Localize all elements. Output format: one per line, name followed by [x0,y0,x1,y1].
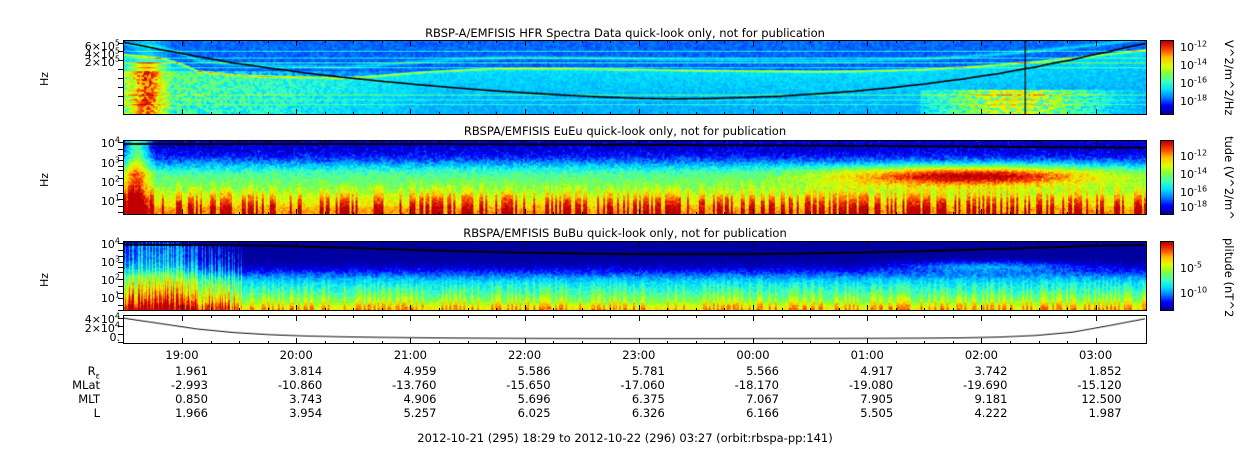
x-minor-tick [1067,212,1068,215]
x-minor-tick [839,315,840,318]
x-minor-tick [610,341,611,344]
x-minor-tick [211,241,212,244]
x-minor-tick [382,308,383,311]
x-major-tick [753,338,754,344]
x-major-tick [296,140,297,146]
x-major-tick [639,338,640,344]
x-minor-tick [268,315,269,318]
x-major-tick [410,241,411,247]
x-minor-tick [896,140,897,143]
colorbar-hfr-tick-2: 10-16 [1180,77,1207,90]
x-minor-tick [839,140,840,143]
x-minor-tick [239,140,240,143]
y-tick [118,170,123,171]
x-minor-tick [696,315,697,318]
x-minor-tick [439,40,440,43]
colorbar-eueu-tick-1: 10-14 [1180,168,1207,181]
x-minor-tick [353,40,354,43]
x-major-tick [296,315,297,321]
x-minor-tick [582,140,583,143]
x-minor-tick [1067,315,1068,318]
x-minor-tick [1039,40,1040,43]
x-major-tick [867,338,868,344]
x-minor-tick [496,241,497,244]
y-tick [118,43,123,44]
x-minor-tick [582,241,583,244]
y-tick [118,199,123,200]
x-minor-tick [211,341,212,344]
x-major-tick [867,209,868,215]
x-major-tick [296,338,297,344]
y-tick [118,206,123,207]
x-minor-tick [610,212,611,215]
x-minor-tick [810,140,811,143]
x-minor-tick [439,140,440,143]
x-minor-tick [468,341,469,344]
table-cell: 5.696 [455,392,551,406]
x-minor-tick [667,112,668,115]
table-cell: 3.742 [911,364,1007,378]
x-minor-tick [211,112,212,115]
colorbar-hfr [1160,40,1174,115]
x-minor-tick [667,140,668,143]
x-major-tick [753,315,754,321]
x-minor-tick [1010,112,1011,115]
x-minor-tick [924,112,925,115]
x-major-tick [1096,241,1097,247]
x-minor-tick [724,308,725,311]
x-major-tick [410,209,411,215]
table-row-label-l: L [20,406,100,420]
x-minor-tick [696,241,697,244]
table-cell: 0.850 [112,392,208,406]
x-tick-label-7: 02:00 [945,348,1017,362]
x-minor-tick [211,308,212,311]
x-minor-tick [468,241,469,244]
x-major-tick [182,109,183,115]
x-major-tick [525,209,526,215]
panel-title-eueu: RBSPA/EMFISIS EuEu quick-look only, not … [0,124,1250,138]
ytick-hfr-2: 2×105 [58,58,120,68]
x-minor-tick [610,308,611,311]
panel-ylabel-bubu: Hz [38,265,51,295]
x-major-tick [639,241,640,247]
x-minor-tick [1067,241,1068,244]
x-major-tick [182,241,183,247]
x-minor-tick [1067,341,1068,344]
x-minor-tick [325,112,326,115]
x-major-tick [753,241,754,247]
x-minor-tick [439,308,440,311]
x-major-tick [182,338,183,344]
figure-root: RBSP-A/EMFISIS HFR Spectra Data quick-lo… [0,0,1250,449]
table-cell: -10.860 [226,378,322,392]
x-major-tick [296,241,297,247]
x-minor-tick [353,112,354,115]
x-major-tick [981,241,982,247]
x-minor-tick [325,40,326,43]
x-major-tick [182,305,183,311]
x-major-tick [981,109,982,115]
x-minor-tick [582,341,583,344]
x-minor-tick [553,241,554,244]
x-minor-tick [667,212,668,215]
x-minor-tick [382,112,383,115]
x-major-tick [981,140,982,146]
y-tick [118,286,123,287]
x-minor-tick [953,112,954,115]
x-major-tick [981,40,982,46]
x-minor-tick [896,40,897,43]
x-minor-tick [325,241,326,244]
x-minor-tick [239,40,240,43]
panel-ylabel-hfr: Hz [38,64,51,94]
x-major-tick [753,40,754,46]
x-minor-tick [696,341,697,344]
x-minor-tick [239,308,240,311]
x-major-tick [639,209,640,215]
x-minor-tick [353,315,354,318]
x-minor-tick [468,40,469,43]
y-tick [118,279,123,280]
x-minor-tick [610,140,611,143]
x-major-tick [867,315,868,321]
colorbar-bubu-tick-0: 10-5 [1180,262,1202,275]
x-minor-tick [782,112,783,115]
x-minor-tick [382,241,383,244]
x-minor-tick [468,212,469,215]
x-major-tick [410,315,411,321]
table-cell: 4.959 [340,364,436,378]
x-minor-tick [724,341,725,344]
x-major-tick [410,40,411,46]
x-minor-tick [896,341,897,344]
x-minor-tick [325,140,326,143]
x-minor-tick [724,112,725,115]
x-minor-tick [582,308,583,311]
x-minor-tick [211,140,212,143]
x-minor-tick [239,341,240,344]
x-minor-tick [553,212,554,215]
x-tick-label-8: 03:00 [1060,348,1132,362]
x-minor-tick [839,241,840,244]
x-minor-tick [325,341,326,344]
x-major-tick [1096,40,1097,46]
colorbar-hfr-tick-0: 10-12 [1180,41,1207,54]
x-minor-tick [924,241,925,244]
x-minor-tick [924,308,925,311]
x-minor-tick [1010,341,1011,344]
y-tick [118,326,123,327]
x-major-tick [182,315,183,321]
x-major-tick [1096,315,1097,321]
x-major-tick [867,140,868,146]
ytick-bubu-3: 101 [58,294,120,304]
x-minor-tick [667,308,668,311]
table-cell: 1.961 [112,364,208,378]
x-minor-tick [782,308,783,311]
x-minor-tick [724,140,725,143]
x-minor-tick [1039,140,1040,143]
colorbar-eueu-title: tude (V^2/m^ [1222,128,1236,228]
x-minor-tick [582,40,583,43]
x-minor-tick [667,241,668,244]
x-major-tick [639,140,640,146]
x-major-tick [639,40,640,46]
colorbar-hfr-title: V^2/m^2/Hz [1222,28,1236,128]
x-minor-tick [496,308,497,311]
x-minor-tick [468,308,469,311]
y-tick [118,105,123,106]
y-tick [118,212,123,213]
y-tick [118,178,123,179]
x-minor-tick [839,212,840,215]
x-minor-tick [1039,241,1040,244]
x-minor-tick [211,315,212,318]
figure-caption: 2012-10-21 (295) 18:29 to 2012-10-22 (29… [0,431,1250,445]
x-minor-tick [724,40,725,43]
ytick-bubu-0: 104 [58,240,120,250]
table-cell: 7.905 [797,392,893,406]
x-minor-tick [1067,112,1068,115]
x-major-tick [525,109,526,115]
x-minor-tick [610,112,611,115]
x-minor-tick [782,212,783,215]
x-major-tick [296,209,297,215]
table-cell: 3.954 [226,406,322,420]
y-tick [118,87,123,88]
x-minor-tick [268,140,269,143]
x-minor-tick [1010,308,1011,311]
x-minor-tick [439,241,440,244]
ytick-eueu-1: 103 [58,159,120,169]
panel-title-hfr: RBSP-A/EMFISIS HFR Spectra Data quick-lo… [0,26,1250,40]
y-tick [118,78,123,79]
x-minor-tick [924,40,925,43]
x-minor-tick [782,315,783,318]
table-row-label-mlat: MLat [20,378,100,392]
x-major-tick [525,140,526,146]
x-minor-tick [667,40,668,43]
x-tick-label-1: 20:00 [260,348,332,362]
table-cell: -17.060 [569,378,665,392]
x-minor-tick [1010,140,1011,143]
y-tick [118,310,123,311]
x-minor-tick [696,212,697,215]
ytick-bubu-1: 103 [58,258,120,268]
x-minor-tick [810,40,811,43]
x-minor-tick [353,212,354,215]
y-tick [118,155,123,156]
x-major-tick [867,109,868,115]
spectrogram-eueu [123,140,1147,215]
table-cell: -15.120 [1026,378,1122,392]
x-minor-tick [239,315,240,318]
table-cell: 5.257 [340,406,436,420]
x-minor-tick [553,315,554,318]
x-major-tick [981,338,982,344]
x-minor-tick [839,341,840,344]
y-tick [118,298,123,299]
x-minor-tick [667,341,668,344]
y-tick [118,267,123,268]
x-major-tick [639,109,640,115]
x-minor-tick [268,40,269,43]
y-tick [118,142,123,143]
x-minor-tick [582,112,583,115]
x-major-tick [410,338,411,344]
x-major-tick [410,305,411,311]
x-minor-tick [239,241,240,244]
table-cell: 6.025 [455,406,551,420]
x-minor-tick [439,112,440,115]
y-tick [118,334,123,335]
x-minor-tick [810,315,811,318]
x-tick-label-0: 19:00 [146,348,218,362]
x-minor-tick [553,112,554,115]
x-major-tick [753,305,754,311]
x-minor-tick [496,40,497,43]
y-tick [118,305,123,306]
table-cell: 1.987 [1026,406,1122,420]
y-tick [118,262,123,263]
colorbar-bubu-title: plitude (nT^2 [1222,228,1236,328]
x-minor-tick [696,112,697,115]
x-minor-tick [268,308,269,311]
x-minor-tick [896,241,897,244]
x-minor-tick [810,212,811,215]
x-major-tick [525,305,526,311]
table-cell: -15.650 [455,378,551,392]
x-major-tick [867,40,868,46]
table-cell: 1.966 [112,406,208,420]
x-minor-tick [1039,212,1040,215]
x-minor-tick [810,241,811,244]
x-minor-tick [839,40,840,43]
y-tick [118,293,123,294]
table-cell: 5.781 [569,364,665,378]
x-major-tick [525,40,526,46]
table-cell: -19.690 [911,378,1007,392]
x-minor-tick [239,212,240,215]
table-cell: 1.852 [1026,364,1122,378]
x-minor-tick [924,341,925,344]
x-minor-tick [1039,341,1040,344]
x-tick-label-5: 00:00 [717,348,789,362]
x-minor-tick [382,140,383,143]
x-major-tick [1096,305,1097,311]
y-tick [118,256,123,257]
x-minor-tick [553,40,554,43]
x-minor-tick [724,315,725,318]
x-minor-tick [953,341,954,344]
y-tick [118,160,123,161]
x-minor-tick [325,308,326,311]
x-minor-tick [782,241,783,244]
x-minor-tick [696,40,697,43]
table-cell: 4.222 [911,406,1007,420]
x-minor-tick [1039,308,1040,311]
colorbar-bubu-tick-1: 10-10 [1180,287,1207,300]
y-tick [118,166,123,167]
table-cell: 5.505 [797,406,893,420]
table-cell: 3.814 [226,364,322,378]
x-major-tick [867,305,868,311]
x-major-tick [753,209,754,215]
table-cell: 5.566 [683,364,779,378]
x-minor-tick [953,241,954,244]
table-row-label-re: Rε [20,364,100,378]
spectrogram-hfr [123,40,1147,115]
y-tick [118,342,123,343]
x-major-tick [639,315,640,321]
x-major-tick [639,305,640,311]
x-minor-tick [1067,40,1068,43]
x-major-tick [1096,140,1097,146]
table-cell: 3.743 [226,392,322,406]
x-minor-tick [382,212,383,215]
table-cell: 12.500 [1026,392,1122,406]
panel-title-bubu: RBSPA/EMFISIS BuBu quick-look only, not … [0,226,1250,240]
x-minor-tick [496,140,497,143]
x-minor-tick [1039,112,1040,115]
x-minor-tick [1010,315,1011,318]
x-major-tick [296,109,297,115]
x-minor-tick [468,112,469,115]
x-minor-tick [696,308,697,311]
x-minor-tick [924,140,925,143]
x-minor-tick [353,241,354,244]
x-minor-tick [782,40,783,43]
x-minor-tick [953,308,954,311]
x-minor-tick [553,140,554,143]
x-minor-tick [1010,212,1011,215]
x-minor-tick [353,140,354,143]
x-minor-tick [782,341,783,344]
x-minor-tick [896,315,897,318]
x-major-tick [182,40,183,46]
x-minor-tick [1067,308,1068,311]
x-major-tick [525,315,526,321]
y-tick [118,318,123,319]
table-cell: -19.080 [797,378,893,392]
x-minor-tick [439,212,440,215]
table-cell: 4.906 [340,392,436,406]
x-tick-label-2: 21:00 [374,348,446,362]
table-cell: -13.760 [340,378,436,392]
x-minor-tick [1039,315,1040,318]
x-minor-tick [325,212,326,215]
ytick-density-2: 0. [58,333,120,343]
x-major-tick [1096,338,1097,344]
x-minor-tick [924,315,925,318]
x-tick-label-3: 22:00 [489,348,561,362]
x-major-tick [1096,109,1097,115]
x-minor-tick [696,140,697,143]
x-minor-tick [724,212,725,215]
table-row-label-mlt: MLT [20,392,100,406]
table-cell: 6.166 [683,406,779,420]
density-line-plot [123,315,1147,344]
x-minor-tick [896,308,897,311]
x-major-tick [410,109,411,115]
x-tick-label-6: 01:00 [831,348,903,362]
x-minor-tick [924,212,925,215]
ytick-eueu-2: 102 [58,178,120,188]
x-minor-tick [439,341,440,344]
x-minor-tick [382,40,383,43]
x-minor-tick [268,212,269,215]
